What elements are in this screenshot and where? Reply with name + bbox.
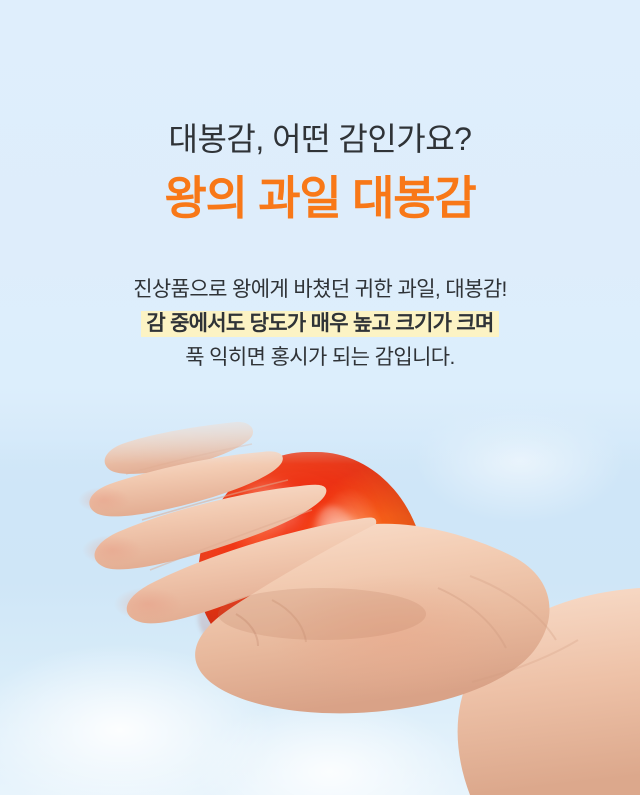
- hero-description-line-3: 푹 익히면 홍시가 되는 감입니다.: [0, 341, 640, 375]
- fingertip-shading-middle: [82, 535, 142, 565]
- fingertip-shading-ring: [78, 487, 130, 513]
- fruit-contact-shadow: [218, 588, 426, 640]
- product-detail-page: 대봉감, 어떤 감인가요? 왕의 과일 대봉감 진상품으로 왕에게 바쳤던 귀한…: [0, 0, 640, 795]
- product-photo: [0, 400, 640, 795]
- hero-description: 진상품으로 왕에게 바쳤던 귀한 과일, 대봉감! 감 중에서도 당도가 매우 …: [0, 229, 640, 375]
- hero-headline: 왕의 과일 대봉감: [0, 160, 640, 229]
- hand-holding-fruit: [0, 400, 640, 795]
- hero-text-block: 대봉감, 어떤 감인가요? 왕의 과일 대봉감 진상품으로 왕에게 바쳤던 귀한…: [0, 0, 640, 375]
- hero-description-line-1: 진상품으로 왕에게 바쳤던 귀한 과일, 대봉감!: [0, 273, 640, 307]
- highlight-mark: 감 중에서도 당도가 매우 높고 크기가 크며: [141, 311, 498, 337]
- hero-description-line-2-highlighted: 감 중에서도 당도가 매우 높고 크기가 크며: [0, 307, 640, 341]
- fingertip-shading-index: [114, 587, 182, 621]
- hero-eyebrow: 대봉감, 어떤 감인가요?: [0, 0, 640, 160]
